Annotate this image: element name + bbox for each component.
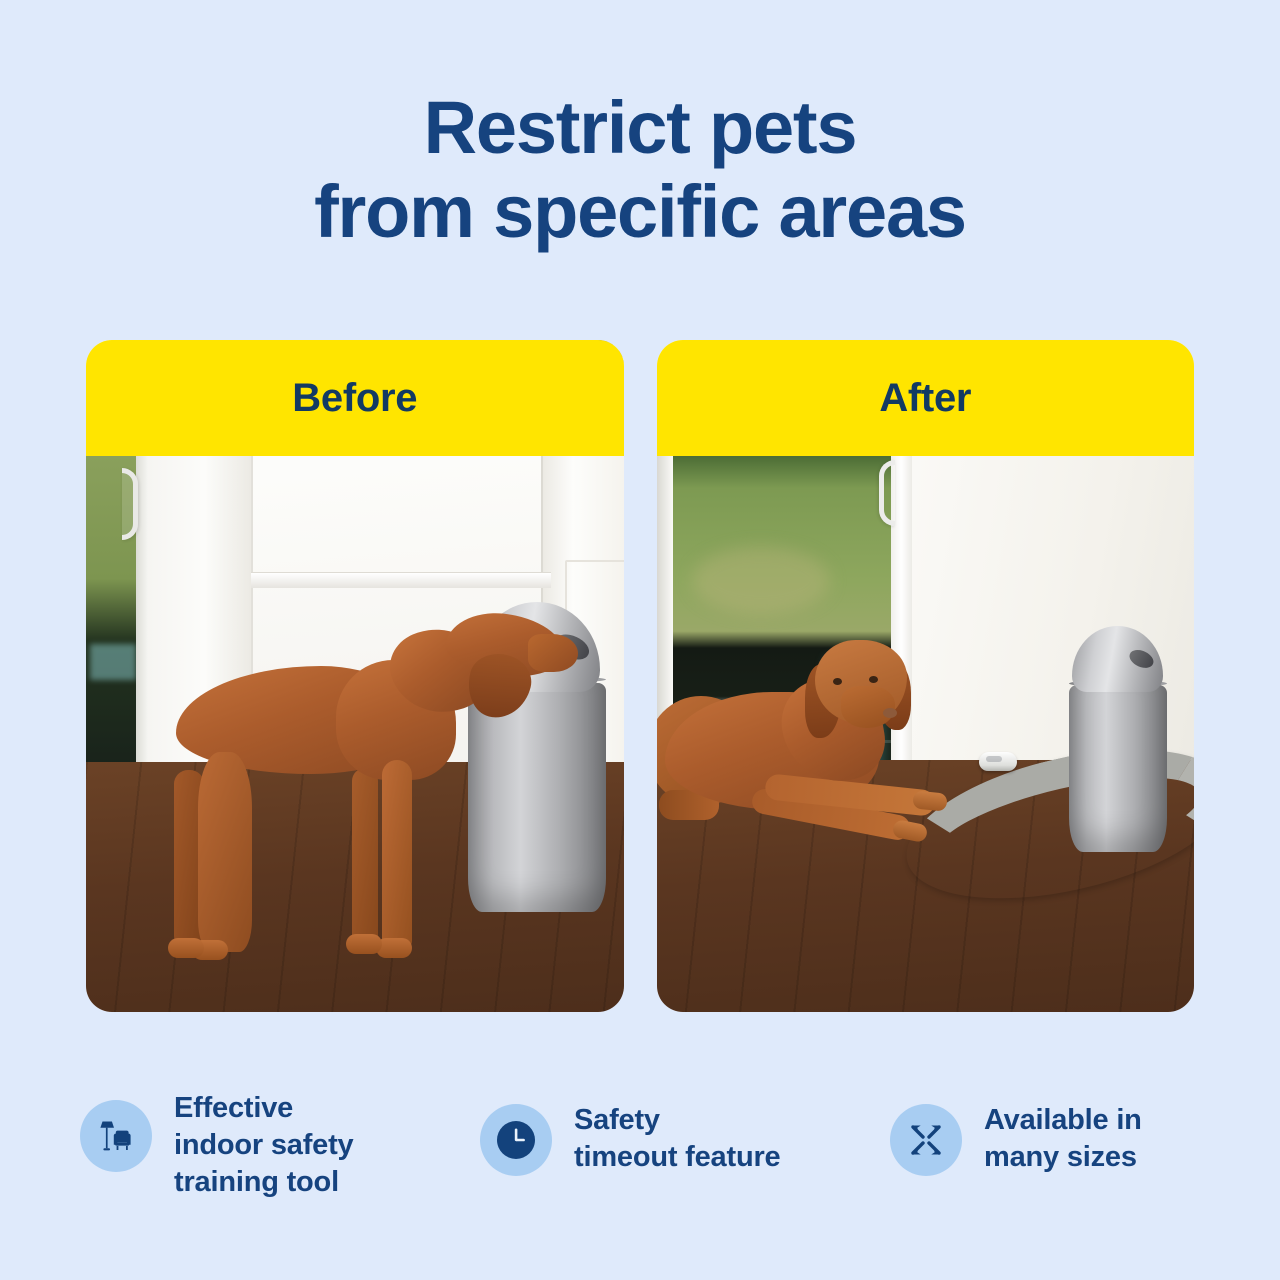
dog-eye-left — [833, 678, 842, 685]
dog-hind-leg — [198, 752, 252, 952]
after-card: After — [657, 340, 1195, 1012]
feature-line-2: indoor safety — [174, 1127, 354, 1164]
before-label: Before — [292, 376, 417, 421]
after-label: After — [879, 376, 971, 421]
before-card: Before — [86, 340, 624, 1012]
feature-line-2: timeout feature — [574, 1139, 780, 1176]
dog-muzzle — [528, 634, 578, 672]
feature-line-1: Safety — [574, 1102, 780, 1139]
lawn-highlight — [692, 547, 830, 614]
expand-arrows-icon — [890, 1104, 962, 1176]
feature-line-1: Effective — [174, 1090, 354, 1127]
feature-item-indoor-safety: Effective indoor safety training tool — [80, 1082, 480, 1201]
dog-front-leg-far — [352, 768, 378, 950]
after-banner: After — [657, 340, 1195, 456]
before-banner: Before — [86, 340, 624, 456]
feature-line-1: Available in — [984, 1102, 1142, 1139]
trash-can — [1069, 626, 1167, 852]
door-handle-icon — [879, 460, 895, 526]
dog-standing — [156, 620, 496, 970]
before-after-comparison: Before — [86, 340, 1194, 1012]
page-title-line-2: from specific areas — [0, 170, 1280, 254]
dog-eye-right — [869, 676, 878, 683]
feature-item-many-sizes: Available in many sizes — [890, 1082, 1205, 1176]
clock-icon — [480, 1104, 552, 1176]
baseboard — [251, 572, 551, 588]
door-handle-icon — [122, 468, 138, 540]
feature-line-2: many sizes — [984, 1139, 1142, 1176]
transmitter-device — [979, 752, 1017, 771]
dog-paw — [346, 934, 382, 954]
dog-paw — [168, 938, 204, 958]
page-title: Restrict pets from specific areas — [0, 0, 1280, 253]
dog-nose — [883, 708, 897, 718]
feature-label-indoor-safety: Effective indoor safety training tool — [174, 1082, 354, 1201]
feature-list: Effective indoor safety training tool Sa… — [80, 1082, 1205, 1201]
feature-item-safety-timeout: Safety timeout feature — [480, 1082, 890, 1176]
page-title-line-1: Restrict pets — [0, 86, 1280, 170]
dog-muzzle — [841, 686, 895, 728]
dog-lying-down — [665, 640, 975, 870]
trash-can-body — [1069, 685, 1167, 852]
feature-label-safety-timeout: Safety timeout feature — [574, 1082, 780, 1176]
feature-line-3: training tool — [174, 1164, 354, 1201]
feature-label-many-sizes: Available in many sizes — [984, 1082, 1142, 1176]
dog-front-leg — [382, 760, 412, 950]
lamp-armchair-icon — [80, 1100, 152, 1172]
